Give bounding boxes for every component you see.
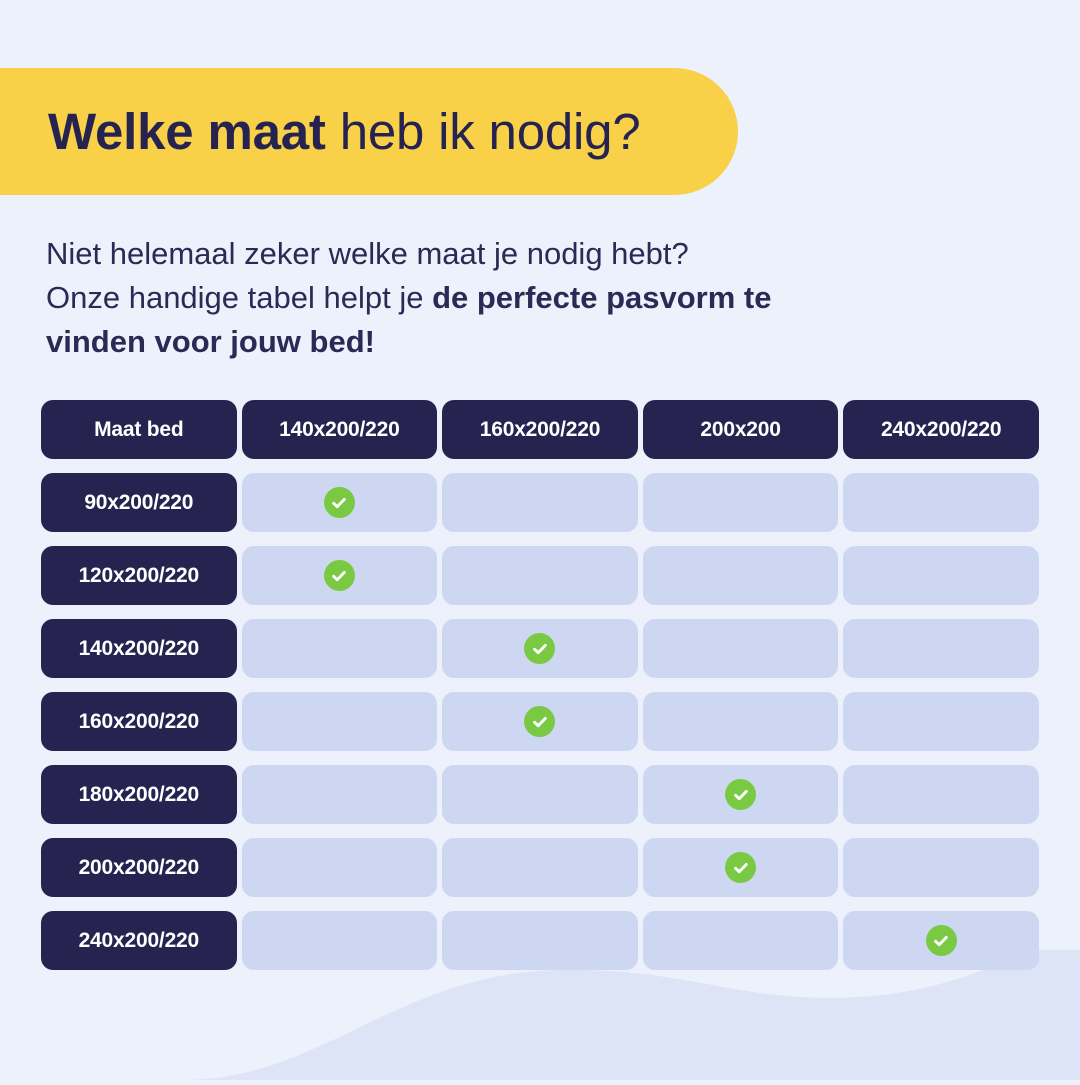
table-row-label: 120x200/220 xyxy=(41,546,237,605)
table-cell-r1-c4 xyxy=(843,473,1039,532)
table-row: 200x200/220 xyxy=(41,838,1039,897)
table-row-label: 180x200/220 xyxy=(41,765,237,824)
table-cell-r3-c2 xyxy=(442,619,638,678)
check-icon xyxy=(324,487,355,518)
table-row-label: 160x200/220 xyxy=(41,692,237,751)
table-row: 120x200/220 xyxy=(41,546,1039,605)
intro-line-3-bold: vinden voor jouw bed! xyxy=(46,324,375,359)
table-column-header-4: 240x200/220 xyxy=(843,400,1039,459)
table-row: 180x200/220 xyxy=(41,765,1039,824)
table-cell-r3-c1 xyxy=(242,619,438,678)
check-icon xyxy=(524,706,555,737)
table-row: 160x200/220 xyxy=(41,692,1039,751)
table-row-label: 140x200/220 xyxy=(41,619,237,678)
table-row: 140x200/220 xyxy=(41,619,1039,678)
table-cell-r2-c4 xyxy=(843,546,1039,605)
page-title: Welke maat heb ik nodig? xyxy=(0,105,641,159)
intro-line-1: Niet helemaal zeker welke maat je nodig … xyxy=(46,236,689,271)
table-row-label: 90x200/220 xyxy=(41,473,237,532)
check-icon xyxy=(324,560,355,591)
table-cell-r4-c4 xyxy=(843,692,1039,751)
table-row-label: 200x200/220 xyxy=(41,838,237,897)
table-row: 240x200/220 xyxy=(41,911,1039,970)
table-cell-r7-c3 xyxy=(643,911,839,970)
table-cell-r6-c3 xyxy=(643,838,839,897)
table-column-header-1: 140x200/220 xyxy=(242,400,438,459)
page-title-regular: heb ik nodig? xyxy=(326,103,641,160)
table-cell-r4-c1 xyxy=(242,692,438,751)
table-cell-r1-c3 xyxy=(643,473,839,532)
table-cell-r3-c4 xyxy=(843,619,1039,678)
check-icon xyxy=(926,925,957,956)
check-icon xyxy=(725,779,756,810)
table-cell-r1-c1 xyxy=(242,473,438,532)
table-cell-r2-c2 xyxy=(442,546,638,605)
table-row: 90x200/220 xyxy=(41,473,1039,532)
table-corner-header: Maat bed xyxy=(41,400,237,459)
intro-paragraph: Niet helemaal zeker welke maat je nodig … xyxy=(46,232,946,364)
table-cell-r5-c3 xyxy=(643,765,839,824)
table-cell-r5-c2 xyxy=(442,765,638,824)
check-icon xyxy=(725,852,756,883)
title-banner: Welke maat heb ik nodig? xyxy=(0,68,738,195)
table-cell-r5-c4 xyxy=(843,765,1039,824)
page-title-bold: Welke maat xyxy=(48,103,326,160)
table-column-header-2: 160x200/220 xyxy=(442,400,638,459)
intro-line-2-bold: de perfecte pasvorm te xyxy=(432,280,771,315)
table-cell-r4-c3 xyxy=(643,692,839,751)
table-cell-r4-c2 xyxy=(442,692,638,751)
table-cell-r7-c2 xyxy=(442,911,638,970)
table-header-row: Maat bed140x200/220160x200/220200x200240… xyxy=(41,400,1039,459)
table-cell-r6-c2 xyxy=(442,838,638,897)
table-cell-r1-c2 xyxy=(442,473,638,532)
table-cell-r7-c1 xyxy=(242,911,438,970)
table-cell-r2-c3 xyxy=(643,546,839,605)
table-row-label: 240x200/220 xyxy=(41,911,237,970)
size-comparison-table: Maat bed140x200/220160x200/220200x200240… xyxy=(41,400,1039,970)
table-cell-r6-c1 xyxy=(242,838,438,897)
table-cell-r6-c4 xyxy=(843,838,1039,897)
table-cell-r3-c3 xyxy=(643,619,839,678)
table-cell-r7-c4 xyxy=(843,911,1039,970)
table-cell-r2-c1 xyxy=(242,546,438,605)
table-cell-r5-c1 xyxy=(242,765,438,824)
check-icon xyxy=(524,633,555,664)
intro-line-2-regular: Onze handige tabel helpt je xyxy=(46,280,432,315)
table-column-header-3: 200x200 xyxy=(643,400,839,459)
